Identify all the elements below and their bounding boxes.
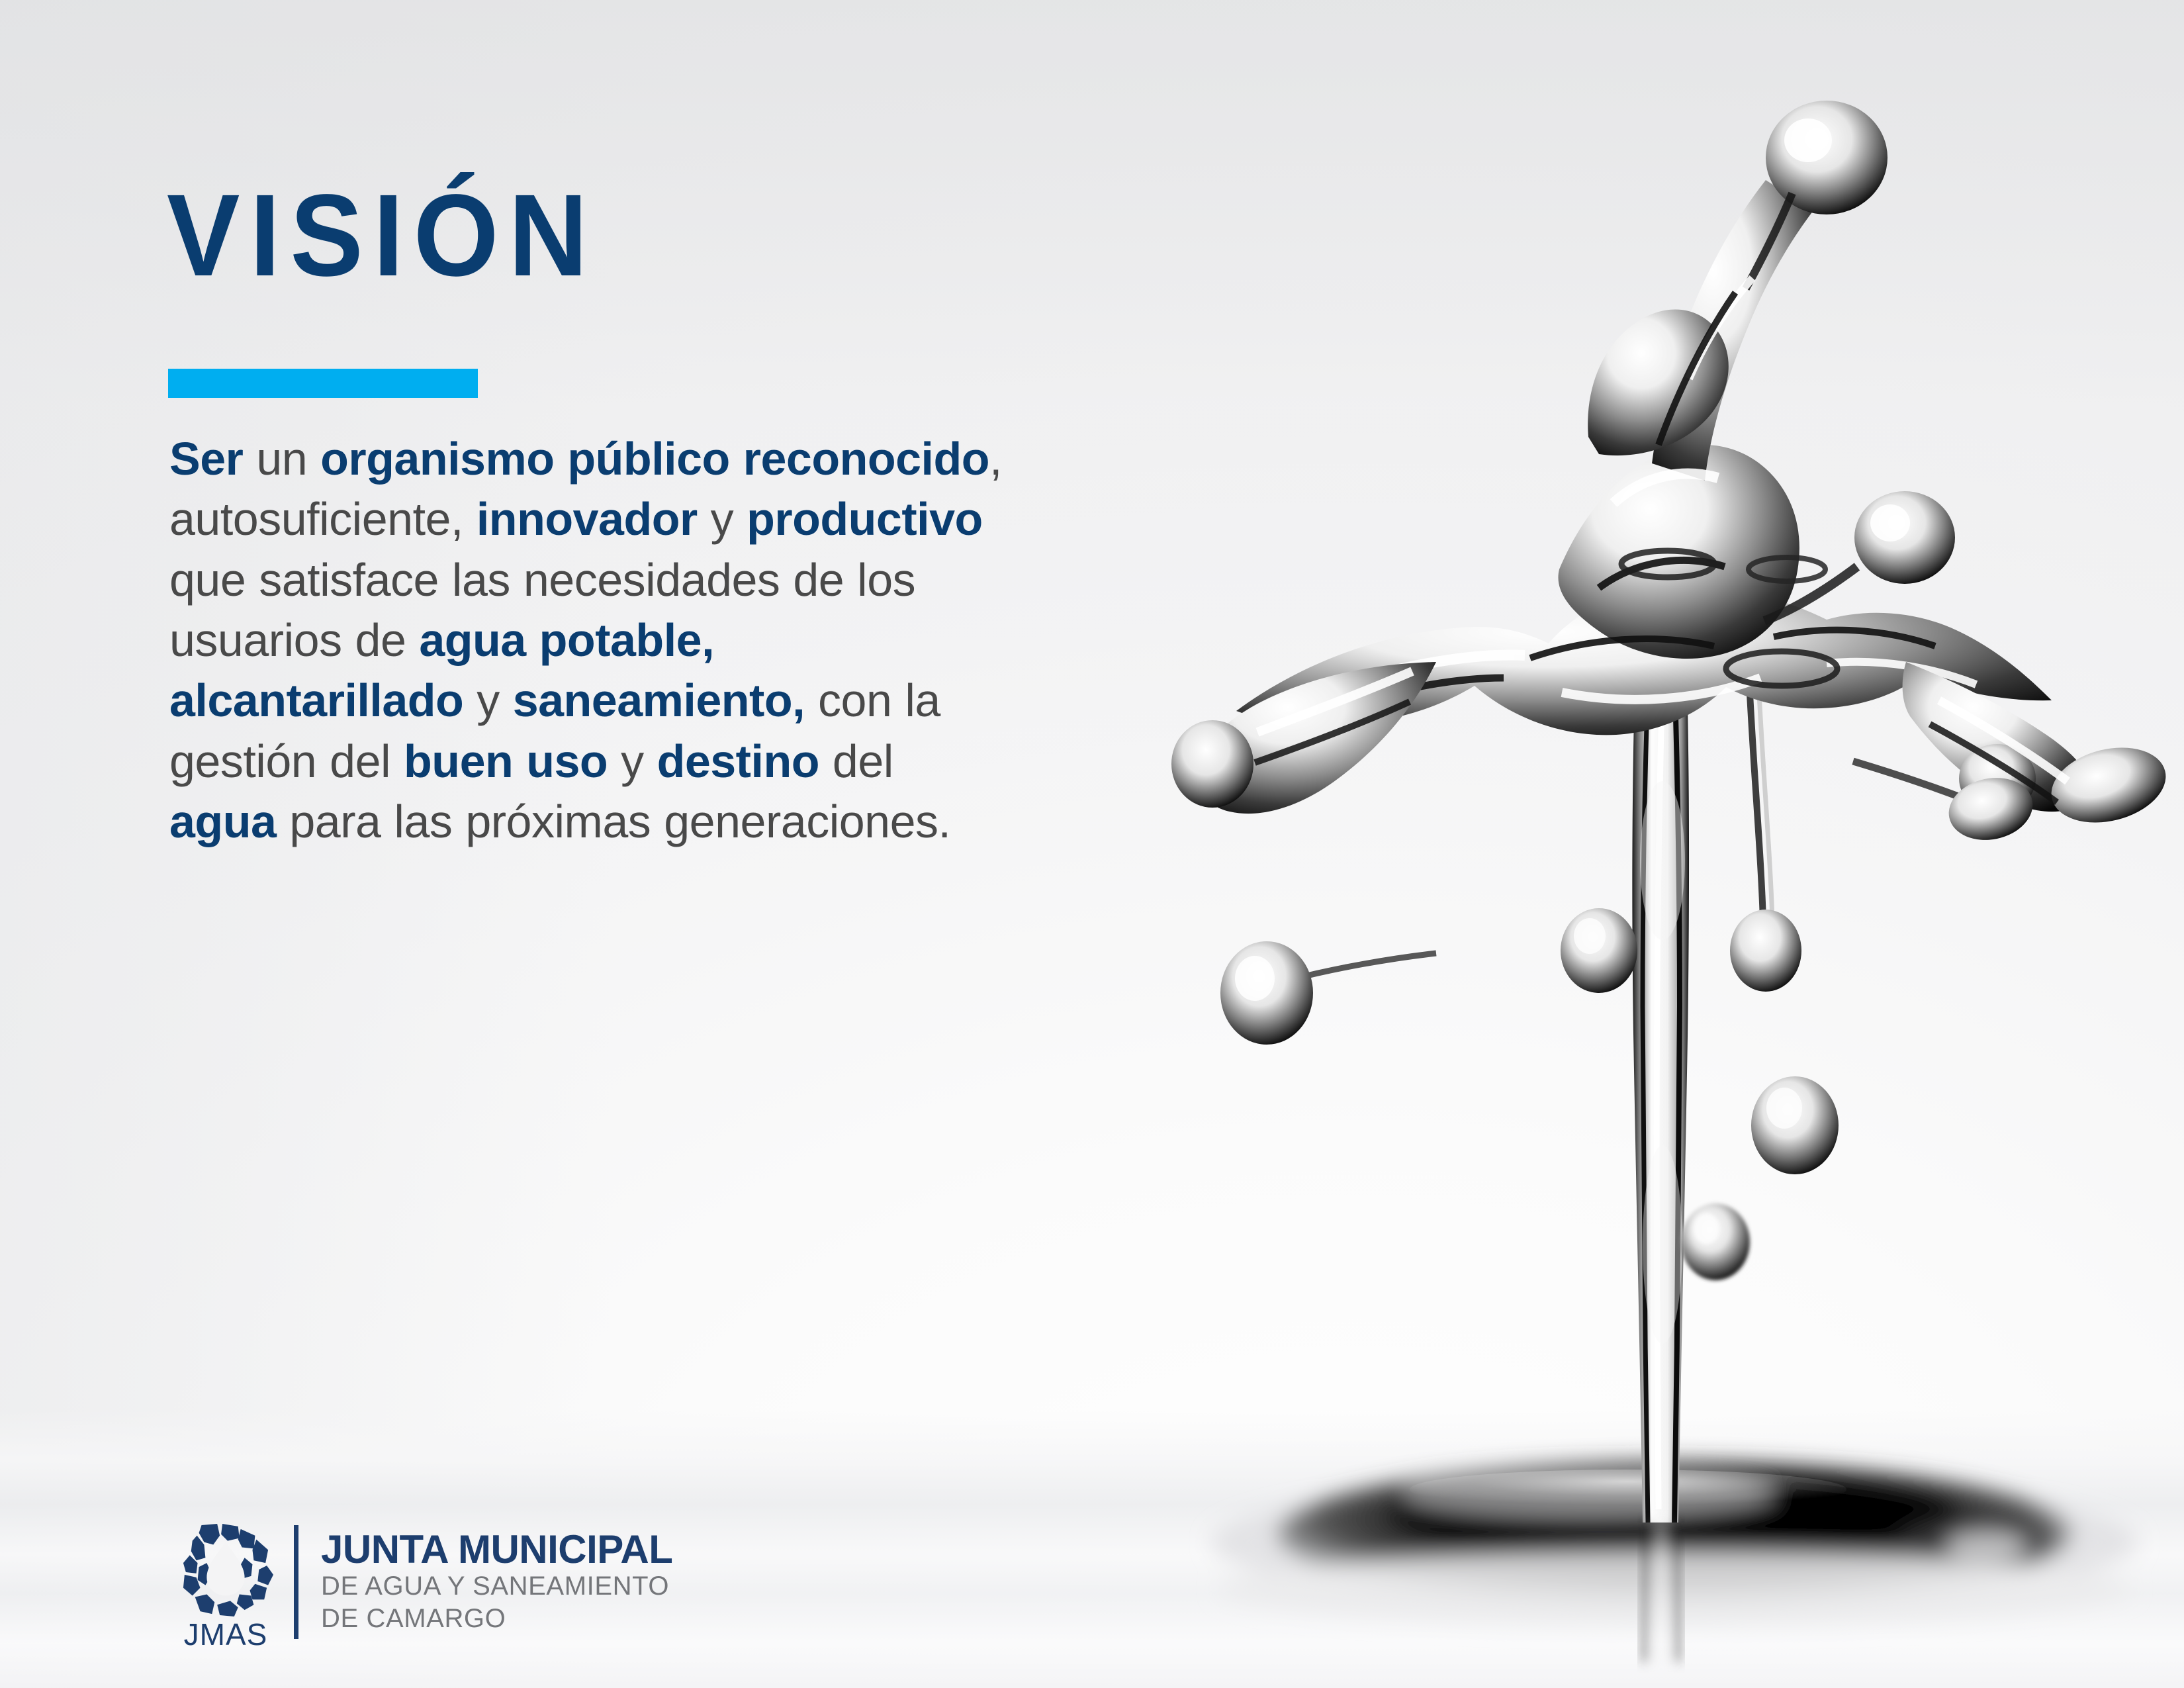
- logo-acronym: JMAS: [184, 1619, 268, 1650]
- water-splash-photograph: [1125, 0, 2184, 1688]
- vision-emphasis: productivo: [747, 493, 983, 545]
- vision-text: un: [243, 433, 320, 485]
- vision-text: para las próximas generaciones.: [276, 796, 950, 847]
- logo-wordmark: JUNTA MUNICIPAL DE AGUA Y SANEAMIENTO DE…: [321, 1523, 672, 1650]
- logo-divider: [294, 1525, 298, 1639]
- vision-poster: VISIÓN Ser un organismo público reconoci…: [0, 0, 2184, 1688]
- accent-bar: [168, 369, 478, 398]
- splash-crown: [1236, 101, 2052, 735]
- logo-name-line-2: DE AGUA Y SANEAMIENTO: [321, 1570, 672, 1603]
- vision-emphasis: saneamiento,: [513, 675, 805, 726]
- chihuahua-state-water-drop-icon: [176, 1523, 275, 1618]
- vision-emphasis: organismo público reconocido: [320, 433, 989, 485]
- splash-arm-left: [1171, 662, 1436, 814]
- vision-text: y: [463, 675, 512, 726]
- logo-name-line-3: DE CAMARGO: [321, 1603, 672, 1635]
- vision-paragraph: Ser un organismo público reconocido, aut…: [169, 429, 1003, 852]
- vision-text: y: [608, 735, 657, 787]
- logo-name-line-1: JUNTA MUNICIPAL: [321, 1529, 672, 1570]
- vision-text: del: [819, 735, 893, 787]
- vision-emphasis: agua: [169, 796, 276, 847]
- droplet-left-low: [1220, 941, 1436, 1045]
- falling-droplets: [1681, 1203, 1750, 1280]
- page-title: VISIÓN: [167, 177, 598, 294]
- apex-droplet: [1766, 101, 1888, 214]
- vision-emphasis: buen uso: [404, 735, 608, 787]
- vision-text: y: [698, 493, 747, 545]
- vision-emphasis: Ser: [169, 433, 243, 485]
- jmas-logo: JMAS JUNTA MUNICIPAL DE AGUA Y SANEAMIEN…: [167, 1523, 672, 1650]
- logo-mark: JMAS: [167, 1523, 285, 1650]
- vision-emphasis: innovador: [477, 493, 698, 545]
- text-column: VISIÓN Ser un organismo público reconoci…: [167, 0, 1014, 1688]
- vision-emphasis: destino: [657, 735, 819, 787]
